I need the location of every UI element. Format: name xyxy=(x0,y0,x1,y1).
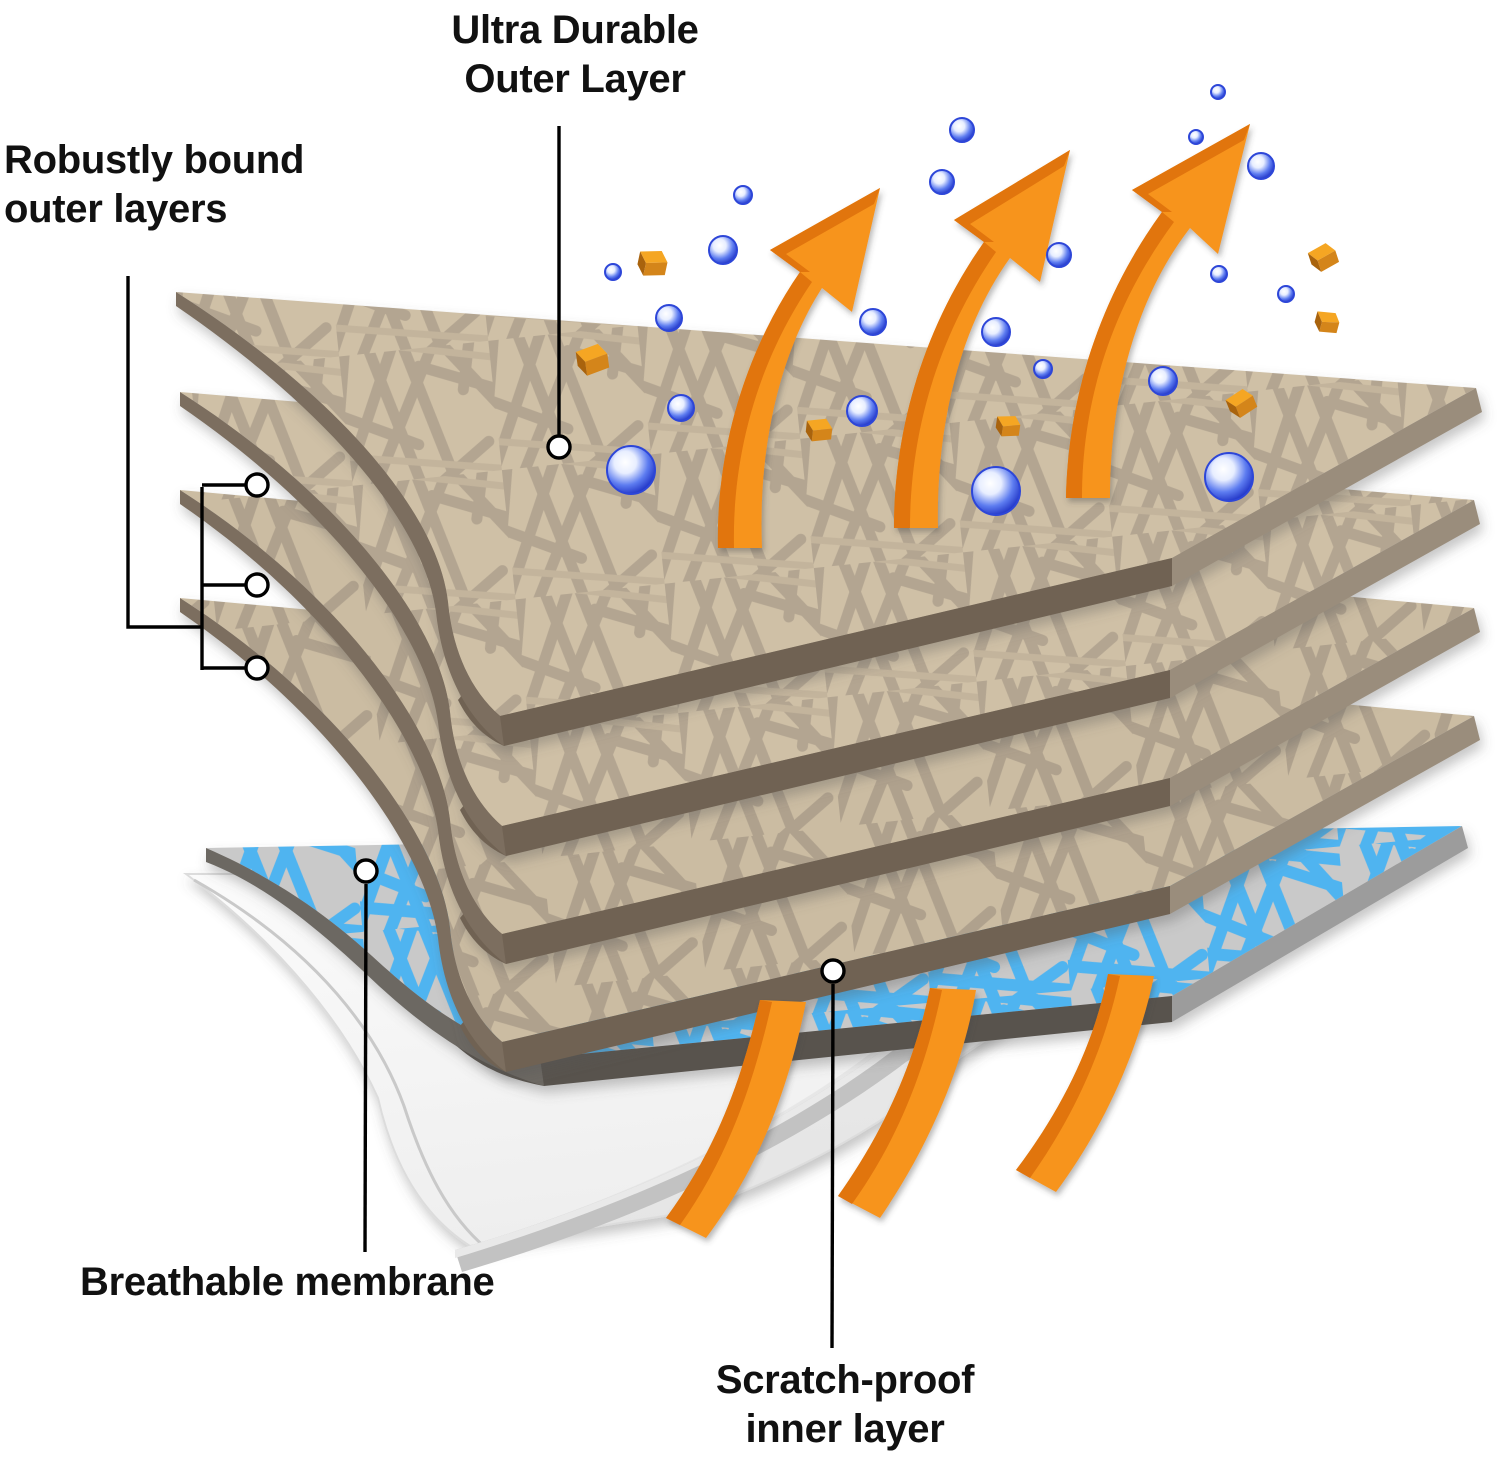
leader-line-bound-main xyxy=(128,276,202,627)
callout-marker-icon xyxy=(822,960,844,982)
callout-marker-icon xyxy=(246,474,268,496)
callout-marker-icon xyxy=(246,574,268,596)
water-droplet-icon xyxy=(1211,266,1227,282)
diagram-canvas: Ultra Durable Outer Layer Robustly bound… xyxy=(0,0,1499,1463)
water-droplet-icon xyxy=(1189,130,1203,144)
dirt-particle-icon xyxy=(1313,309,1342,336)
water-droplet-icon xyxy=(982,318,1010,346)
water-droplet-icon xyxy=(1047,243,1071,267)
label-line-1: Breathable membrane xyxy=(80,1258,700,1307)
label-line-1: Robustly bound xyxy=(4,136,434,185)
water-droplet-icon xyxy=(847,396,877,426)
dirt-particle-icon xyxy=(1307,241,1341,274)
water-droplet-icon xyxy=(1278,286,1294,302)
label-line-2: inner layer xyxy=(630,1405,1060,1454)
leader-line-membrane xyxy=(365,884,366,1252)
water-droplet-icon xyxy=(1034,360,1052,378)
water-droplet-icon xyxy=(1205,453,1253,501)
water-droplet-icon xyxy=(709,236,737,264)
water-droplet-icon xyxy=(668,395,694,421)
label-line-1: Scratch-proof xyxy=(630,1356,1060,1405)
water-droplet-icon xyxy=(950,118,974,142)
water-droplet-icon xyxy=(1211,85,1225,99)
water-droplet-icon xyxy=(930,170,954,194)
label-scratch-proof-inner-layer: Scratch-proof inner layer xyxy=(630,1356,1060,1454)
label-robustly-bound-outer-layers: Robustly bound outer layers xyxy=(4,136,434,234)
water-droplet-icon xyxy=(972,467,1020,515)
callout-marker-icon xyxy=(246,657,268,679)
water-droplet-icon xyxy=(1248,153,1274,179)
label-line-2: Outer Layer xyxy=(390,55,760,104)
water-droplet-icon xyxy=(1149,367,1177,395)
water-droplet-icon xyxy=(860,309,886,335)
label-breathable-membrane: Breathable membrane xyxy=(80,1258,700,1307)
callout-marker-icon xyxy=(548,436,570,458)
water-droplet-icon xyxy=(656,305,682,331)
water-droplet-icon xyxy=(607,446,655,494)
water-droplet-icon xyxy=(605,264,621,280)
callout-marker-icon xyxy=(355,860,377,882)
label-ultra-durable-outer-layer: Ultra Durable Outer Layer xyxy=(390,6,760,104)
leader-line-inner-layer xyxy=(832,984,833,1348)
label-line-1: Ultra Durable xyxy=(390,6,760,55)
dirt-particle-icon xyxy=(635,247,669,280)
water-droplet-icon xyxy=(734,186,752,204)
label-line-2: outer layers xyxy=(4,185,434,234)
